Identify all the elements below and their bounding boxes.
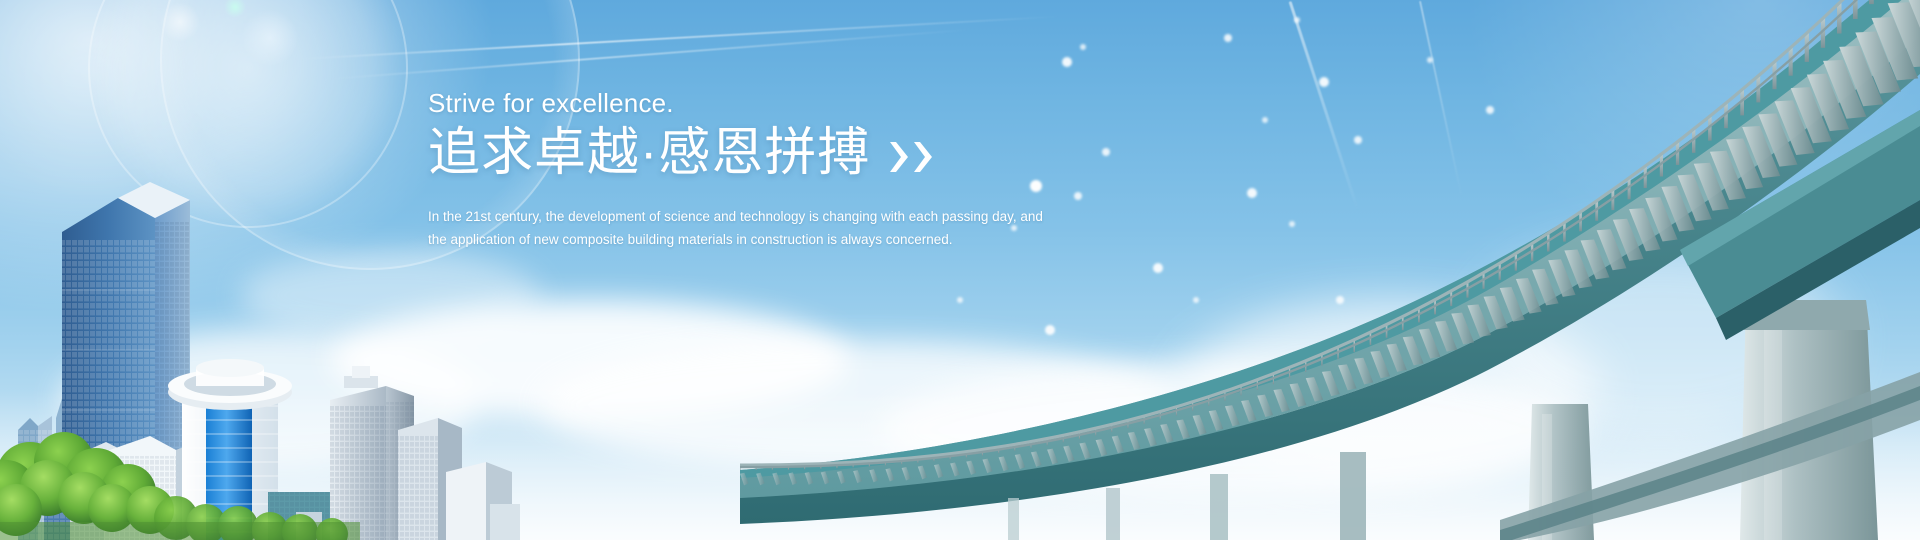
- page-title: 追求卓越·感恩拼搏: [428, 123, 870, 184]
- banner-copy: Strive for excellence. 追求卓越·感恩拼搏 In the …: [428, 88, 1068, 251]
- description-line-1: In the 21st century, the development of …: [428, 206, 1068, 228]
- banner-eyebrow: Strive for excellence.: [428, 88, 1068, 119]
- hero-banner: Strive for excellence. 追求卓越·感恩拼搏 In the …: [0, 0, 1920, 540]
- chevron-right-icon: [888, 140, 910, 174]
- double-chevron-right-icon[interactable]: [888, 140, 934, 174]
- chevron-right-icon: [912, 140, 934, 174]
- description-line-2: the application of new composite buildin…: [428, 229, 1068, 251]
- bridge-railing-post: [1869, 0, 1874, 4]
- curved-viaduct-bridge: [740, 0, 1920, 540]
- banner-description: In the 21st century, the development of …: [428, 206, 1068, 251]
- foreground-trees: [0, 410, 360, 540]
- headline-row: 追求卓越·感恩拼搏: [428, 123, 1068, 184]
